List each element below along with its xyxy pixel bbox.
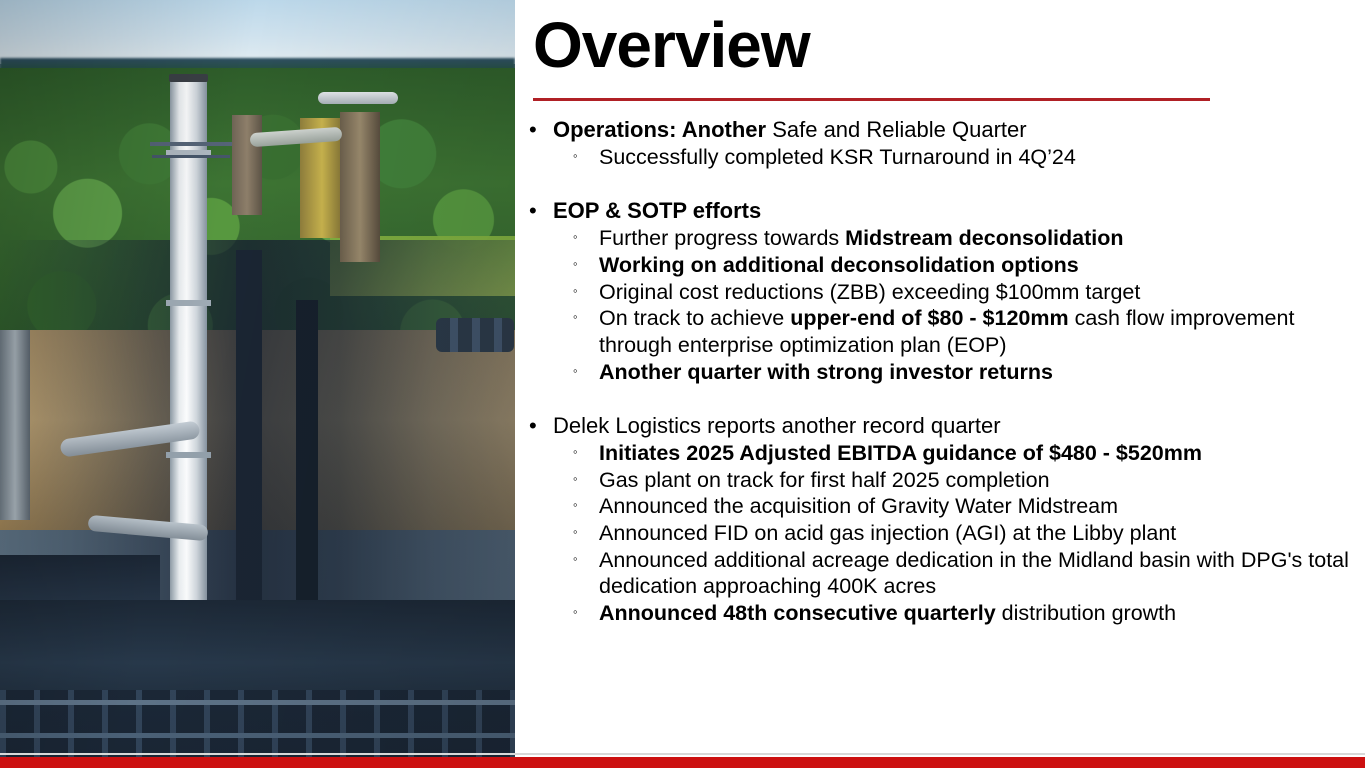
bullet-marker-circle-icon: ◦	[525, 493, 599, 518]
footer-accent-bar	[0, 757, 1365, 768]
bullet-text-plain: Announced the acquisition of Gravity Wat…	[599, 494, 1118, 518]
bullet-marker-circle-icon: ◦	[525, 144, 599, 169]
bullet-item-level-2: ◦Working on additional deconsolidation o…	[525, 252, 1355, 279]
bullet-item-level-2: ◦Original cost reductions (ZBB) exceedin…	[525, 279, 1355, 306]
bullet-item-level-1: •Operations: Another Safe and Reliable Q…	[525, 117, 1355, 144]
bullet-marker-circle-icon: ◦	[525, 467, 599, 492]
bullet-item-level-2: ◦Initiates 2025 Adjusted EBITDA guidance…	[525, 440, 1355, 467]
bullet-item-level-1: •Delek Logistics reports another record …	[525, 413, 1355, 440]
bullet-marker-dot-icon: •	[525, 117, 553, 144]
bullet-text-plain: Delek Logistics reports another record q…	[553, 413, 1001, 438]
bullet-text: Working on additional deconsolidation op…	[599, 252, 1355, 279]
bullet-spacer	[525, 385, 1355, 413]
bullet-text: Another quarter with strong investor ret…	[599, 359, 1355, 386]
bullet-text: Announced additional acreage dedication …	[599, 547, 1355, 600]
bullet-marker-circle-icon: ◦	[525, 279, 599, 304]
page-title: Overview	[533, 12, 810, 79]
bullet-text: Announced 48th consecutive quarterly dis…	[599, 600, 1355, 627]
bullet-item-level-2: ◦Announced FID on acid gas injection (AG…	[525, 520, 1355, 547]
bullet-marker-circle-icon: ◦	[525, 225, 599, 250]
bullet-text: Gas plant on track for first half 2025 c…	[599, 467, 1355, 494]
footer-divider	[0, 753, 1365, 755]
slide-content: Overview •Operations: Another Safe and R…	[515, 0, 1365, 757]
bullet-marker-circle-icon: ◦	[525, 359, 599, 384]
bullet-text: Announced FID on acid gas injection (AGI…	[599, 520, 1355, 547]
bullet-item-level-2: ◦Another quarter with strong investor re…	[525, 359, 1355, 386]
bullet-item-level-2: ◦Announced additional acreage dedication…	[525, 547, 1355, 600]
bullet-text: Successfully completed KSR Turnaround in…	[599, 144, 1355, 171]
slide: Overview •Operations: Another Safe and R…	[0, 0, 1365, 768]
bullet-marker-circle-icon: ◦	[525, 547, 599, 572]
bullet-marker-circle-icon: ◦	[525, 440, 599, 465]
bullet-marker-circle-icon: ◦	[525, 305, 599, 330]
bullet-text-plain: Further progress towards	[599, 226, 845, 250]
bullet-text: Announced the acquisition of Gravity Wat…	[599, 493, 1355, 520]
title-underline	[533, 98, 1210, 101]
bullet-item-level-2: ◦Announced the acquisition of Gravity Wa…	[525, 493, 1355, 520]
bullet-marker-dot-icon: •	[525, 413, 553, 440]
bullet-marker-circle-icon: ◦	[525, 520, 599, 545]
bullet-text-strong: Initiates 2025 Adjusted EBITDA guidance …	[599, 441, 1202, 465]
bullet-text-strong: upper-end of $80 - $120mm	[790, 306, 1068, 330]
bullet-item-level-2: ◦Announced 48th consecutive quarterly di…	[525, 600, 1355, 627]
bullet-item-level-2: ◦On track to achieve upper-end of $80 - …	[525, 305, 1355, 358]
refinery-photo	[0, 0, 515, 757]
bullet-text-strong: Announced 48th consecutive quarterly	[599, 601, 996, 625]
bullet-marker-circle-icon: ◦	[525, 600, 599, 625]
bullet-marker-dot-icon: •	[525, 198, 553, 225]
bullet-list: •Operations: Another Safe and Reliable Q…	[525, 117, 1355, 627]
bullet-text: Delek Logistics reports another record q…	[553, 413, 1355, 440]
bullet-text-strong: Working on additional deconsolidation op…	[599, 253, 1079, 277]
bullet-text-plain: Gas plant on track for first half 2025 c…	[599, 468, 1050, 492]
bullet-text-plain: Successfully completed KSR Turnaround in…	[599, 145, 1076, 169]
bullet-item-level-1: •EOP & SOTP efforts	[525, 198, 1355, 225]
bullet-text-plain: Original cost reductions (ZBB) exceeding…	[599, 280, 1140, 304]
bullet-item-level-2: ◦Successfully completed KSR Turnaround i…	[525, 144, 1355, 171]
bullet-item-level-2: ◦Gas plant on track for first half 2025 …	[525, 467, 1355, 494]
bullet-text: Original cost reductions (ZBB) exceeding…	[599, 279, 1355, 306]
bullet-text-plain: distribution growth	[996, 601, 1176, 625]
bullet-text-strong: Another quarter with strong investor ret…	[599, 360, 1053, 384]
bullet-text: Initiates 2025 Adjusted EBITDA guidance …	[599, 440, 1355, 467]
bullet-text-plain: Announced FID on acid gas injection (AGI…	[599, 521, 1176, 545]
bullet-text-strong: Midstream deconsolidation	[845, 226, 1123, 250]
bullet-text: On track to achieve upper-end of $80 - $…	[599, 305, 1355, 358]
bullet-text-strong: EOP & SOTP efforts	[553, 198, 761, 223]
photo-shading	[0, 0, 515, 757]
bullet-text: Further progress towards Midstream decon…	[599, 225, 1355, 252]
bullet-spacer	[525, 170, 1355, 198]
bullet-text: EOP & SOTP efforts	[553, 198, 1355, 225]
bullet-text-plain: Safe and Reliable Quarter	[772, 117, 1026, 142]
bullet-text: Operations: Another Safe and Reliable Qu…	[553, 117, 1355, 144]
bullet-marker-circle-icon: ◦	[525, 252, 599, 277]
bullet-text-plain: On track to achieve	[599, 306, 790, 330]
bullet-item-level-2: ◦Further progress towards Midstream deco…	[525, 225, 1355, 252]
bullet-text-plain: Announced additional acreage dedication …	[599, 548, 1349, 599]
bullet-text-strong: Operations: Another	[553, 117, 772, 142]
